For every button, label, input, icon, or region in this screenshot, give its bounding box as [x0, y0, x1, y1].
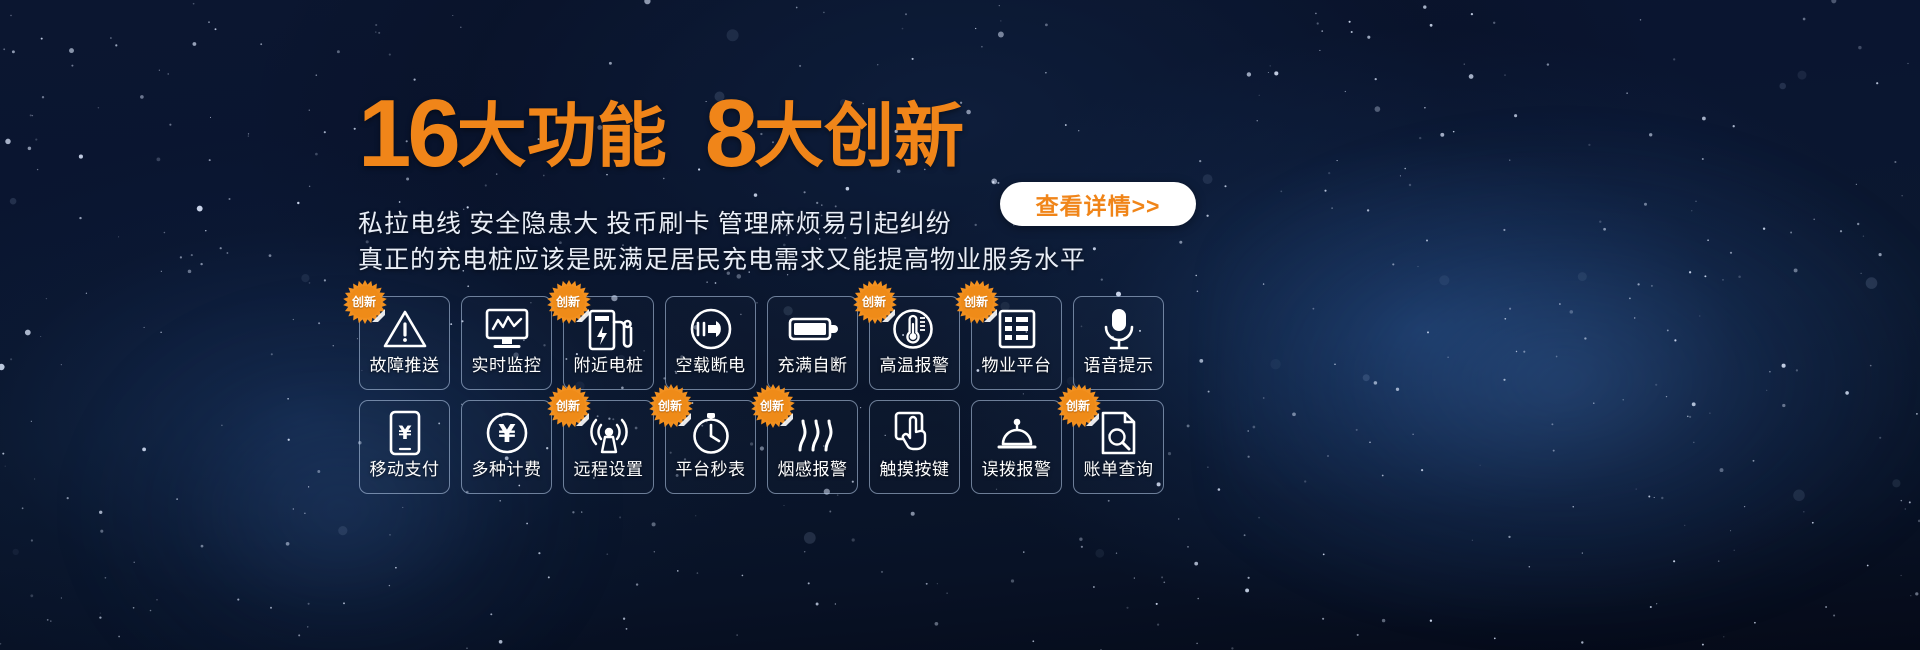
- badge-fold-icon: [576, 309, 589, 322]
- feature-tile-battery-full[interactable]: 充满自断: [767, 296, 858, 390]
- badge-fold-icon: [372, 309, 385, 322]
- feature-tile-charging-station[interactable]: 创新附近电桩: [563, 296, 654, 390]
- feature-grid: 创新故障推送实时监控创新附近电桩空载断电充满自断创新高温报警创新物业平台语音提示…: [359, 296, 1164, 504]
- innovation-badge-label: 创新: [556, 293, 580, 310]
- innovation-badge-label: 创新: [964, 293, 988, 310]
- feature-tile-label: 空载断电: [676, 357, 746, 375]
- innovation-badge-label: 创新: [760, 397, 784, 414]
- promo-banner: 16大功能8大创新 私拉电线 安全隐患大 投币刷卡 管理麻烦易引起纠纷 真正的充…: [0, 0, 1920, 650]
- innovation-badge-label: 创新: [556, 397, 580, 414]
- feature-tile-label: 平台秒表: [676, 461, 746, 479]
- feature-tile-microphone[interactable]: 语音提示: [1073, 296, 1164, 390]
- svg-text:¥: ¥: [498, 419, 516, 448]
- svg-text:¥: ¥: [398, 422, 411, 444]
- feature-tile-label: 语音提示: [1084, 357, 1154, 375]
- battery-full-icon: [768, 301, 857, 357]
- feature-tile-thermometer-circle[interactable]: 创新高温报警: [869, 296, 960, 390]
- feature-row-2: ¥移动支付¥多种计费创新远程设置创新平台秒表创新烟感报警触摸按键误拨报警创新账单…: [359, 400, 1164, 494]
- feature-tile-touch-hand[interactable]: 触摸按键: [869, 400, 960, 494]
- feature-tile-label: 烟感报警: [778, 461, 848, 479]
- innovation-badge: 创新: [751, 384, 795, 428]
- headline-number-16: 16: [358, 80, 457, 187]
- feature-tile-monitor-chart[interactable]: 实时监控: [461, 296, 552, 390]
- feature-tile-mobile-payment[interactable]: ¥移动支付: [359, 400, 450, 494]
- feature-tile-alarm-bell[interactable]: 误拨报警: [971, 400, 1062, 494]
- feature-tile-yuan-circle[interactable]: ¥多种计费: [461, 400, 552, 494]
- feature-tile-wireless-signal[interactable]: 创新远程设置: [563, 400, 654, 494]
- feature-tile-label: 误拨报警: [982, 461, 1052, 479]
- innovation-badge: 创新: [547, 384, 591, 428]
- feature-row-1: 创新故障推送实时监控创新附近电桩空载断电充满自断创新高温报警创新物业平台语音提示: [359, 296, 1164, 390]
- badge-fold-icon: [984, 309, 997, 322]
- innovation-badge: 创新: [343, 280, 387, 324]
- feature-tile-plug-circle[interactable]: 空载断电: [665, 296, 756, 390]
- innovation-badge-label: 创新: [352, 293, 376, 310]
- feature-tile-label: 高温报警: [880, 357, 950, 375]
- feature-tile-label: 实时监控: [472, 357, 542, 375]
- badge-fold-icon: [882, 309, 895, 322]
- view-details-button[interactable]: 查看详情>>: [1000, 182, 1196, 226]
- innovation-badge-label: 创新: [658, 397, 682, 414]
- touch-hand-icon: [870, 405, 959, 461]
- feature-tile-smoke-detector[interactable]: 创新烟感报警: [767, 400, 858, 494]
- nebula-glow: [1220, 120, 1920, 640]
- innovation-badge-label: 创新: [862, 293, 886, 310]
- innovation-badge: 创新: [547, 280, 591, 324]
- feature-tile-warning-triangle[interactable]: 创新故障推送: [359, 296, 450, 390]
- plug-circle-icon: [666, 301, 755, 357]
- headline-word-functions: 大功能: [457, 97, 667, 175]
- badge-fold-icon: [780, 413, 793, 426]
- feature-tile-label: 多种计费: [472, 461, 542, 479]
- feature-tile-label: 远程设置: [574, 461, 644, 479]
- innovation-badge: 创新: [649, 384, 693, 428]
- mobile-payment-icon: ¥: [360, 405, 449, 461]
- feature-tile-stopwatch[interactable]: 创新平台秒表: [665, 400, 756, 494]
- monitor-chart-icon: [462, 301, 551, 357]
- feature-tile-label: 故障推送: [370, 357, 440, 375]
- feature-tile-label: 充满自断: [778, 357, 848, 375]
- badge-fold-icon: [678, 413, 691, 426]
- page-title: 16大功能8大创新: [358, 86, 964, 182]
- microphone-icon: [1074, 301, 1163, 357]
- feature-tile-building[interactable]: 创新物业平台: [971, 296, 1062, 390]
- innovation-badge: 创新: [1057, 384, 1101, 428]
- alarm-bell-icon: [972, 405, 1061, 461]
- innovation-badge-label: 创新: [1066, 397, 1090, 414]
- feature-tile-label: 账单查询: [1084, 461, 1154, 479]
- headline-word-innovations: 大创新: [754, 97, 964, 175]
- feature-tile-bill-search[interactable]: 创新账单查询: [1073, 400, 1164, 494]
- feature-tile-label: 移动支付: [370, 461, 440, 479]
- innovation-badge: 创新: [853, 280, 897, 324]
- feature-tile-label: 物业平台: [982, 357, 1052, 375]
- feature-tile-label: 附近电桩: [574, 357, 644, 375]
- badge-fold-icon: [576, 413, 589, 426]
- feature-tile-label: 触摸按键: [880, 461, 950, 479]
- subtitle-line-1: 私拉电线 安全隐患大 投币刷卡 管理麻烦易引起纠纷: [358, 207, 952, 243]
- badge-fold-icon: [1086, 413, 1099, 426]
- headline-number-8: 8: [705, 80, 754, 187]
- subtitle-line-2: 真正的充电桩应该是既满足居民充电需求又能提高物业服务水平: [358, 243, 1086, 279]
- innovation-badge: 创新: [955, 280, 999, 324]
- yuan-circle-icon: ¥: [462, 405, 551, 461]
